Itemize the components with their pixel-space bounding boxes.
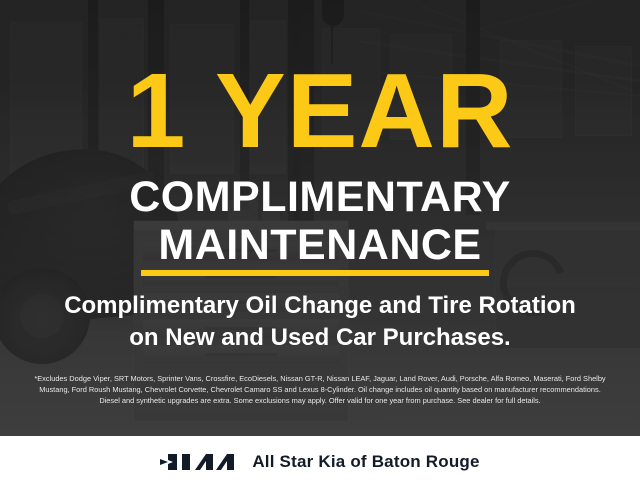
dealer-name: All Star Kia of Baton Rouge bbox=[252, 452, 479, 472]
headline-subtitle-line1: COMPLIMENTARY bbox=[129, 173, 511, 221]
headline-subtitle: COMPLIMENTARY MAINTENANCE bbox=[0, 173, 640, 269]
offer-description: Complimentary Oil Change and Tire Rotati… bbox=[0, 290, 640, 354]
offer-description-line1: Complimentary Oil Change and Tire Rotati… bbox=[64, 292, 576, 319]
accent-divider bbox=[141, 270, 489, 276]
disclaimer-line-3: Diesel and synthetic upgrades are extra.… bbox=[14, 396, 626, 407]
disclaimer-line-1: *Excludes Dodge Viper, SRT Motors, Sprin… bbox=[14, 374, 626, 385]
offer-description-line2: on New and Used Car Purchases. bbox=[0, 322, 640, 354]
disclaimer-text: *Excludes Dodge Viper, SRT Motors, Sprin… bbox=[14, 374, 626, 407]
dealer-footer: All Star Kia of Baton Rouge bbox=[0, 436, 640, 488]
kia-logo bbox=[160, 451, 234, 473]
disclaimer-line-2: Mustang, Ford Roush Mustang, Chevrolet C… bbox=[14, 385, 626, 396]
banner-copy: 1 YEAR COMPLIMENTARY MAINTENANCE Complim… bbox=[0, 0, 640, 488]
promotional-banner: 1 YEAR COMPLIMENTARY MAINTENANCE Complim… bbox=[0, 0, 640, 488]
headline-subtitle-line2: MAINTENANCE bbox=[0, 221, 640, 269]
headline-year: 1 YEAR bbox=[0, 58, 640, 164]
